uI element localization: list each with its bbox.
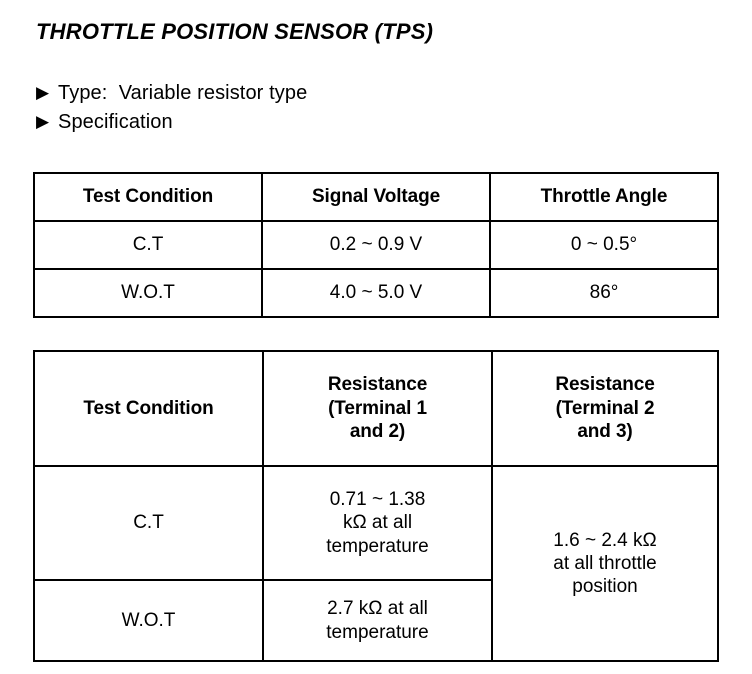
cell-value: C.T xyxy=(39,511,258,534)
bullet-item-type-label: Type: Variable resistor type xyxy=(58,82,307,105)
column-header-test-condition: Test Condition xyxy=(34,351,263,466)
cell-value: 0 ~ 0.5° xyxy=(495,233,713,256)
cell-value: 4.0 ~ 5.0 V xyxy=(267,281,485,304)
cell-test-condition: C.T xyxy=(34,466,263,580)
triangle-bullet-icon: ▶ xyxy=(36,113,58,130)
column-header-resistance-terminal-1-2: Resistance (Terminal 1 and 2) xyxy=(263,351,492,466)
cell-resistance-terminal-2-3-merged: 1.6 ~ 2.4 kΩ at all throttle position xyxy=(492,466,718,661)
cell-throttle-angle: 86° xyxy=(490,269,718,317)
cell-test-condition: C.T xyxy=(34,221,262,269)
table-row: W.O.T 4.0 ~ 5.0 V 86° xyxy=(34,269,718,317)
table-row: C.T 0.2 ~ 0.9 V 0 ~ 0.5° xyxy=(34,221,718,269)
bullet-item-specification-label: Specification xyxy=(58,111,173,134)
cell-value: 0.71 ~ 1.38 kΩ at all temperature xyxy=(268,488,487,558)
triangle-bullet-icon: ▶ xyxy=(36,84,58,101)
column-header-test-condition: Test Condition xyxy=(34,173,262,221)
column-header-label: Resistance (Terminal 2 and 3) xyxy=(497,373,713,444)
cell-value: W.O.T xyxy=(39,281,257,304)
list-item: ▶ Type: Variable resistor type xyxy=(36,82,676,111)
bullet-list: ▶ Type: Variable resistor type ▶ Specifi… xyxy=(36,82,676,140)
cell-value: 86° xyxy=(495,281,713,304)
column-header-label: Test Condition xyxy=(39,397,258,421)
column-header-throttle-angle: Throttle Angle xyxy=(490,173,718,221)
cell-signal-voltage: 0.2 ~ 0.9 V xyxy=(262,221,490,269)
cell-test-condition: W.O.T xyxy=(34,269,262,317)
column-header-label: Test Condition xyxy=(39,185,257,209)
document-page: { "document": { "title": "THROTTLE POSIT… xyxy=(0,0,752,674)
table-header-row: Test Condition Signal Voltage Throttle A… xyxy=(34,173,718,221)
resistance-table: Test Condition Resistance (Terminal 1 an… xyxy=(33,350,719,662)
cell-value: C.T xyxy=(39,233,257,256)
column-header-label: Throttle Angle xyxy=(495,185,713,209)
table-row: C.T 0.71 ~ 1.38 kΩ at all temperature 1.… xyxy=(34,466,718,580)
column-header-label: Resistance (Terminal 1 and 2) xyxy=(268,373,487,444)
column-header-signal-voltage: Signal Voltage xyxy=(262,173,490,221)
cell-value: 1.6 ~ 2.4 kΩ at all throttle position xyxy=(497,529,713,599)
cell-value: 2.7 kΩ at all temperature xyxy=(268,597,487,643)
cell-test-condition: W.O.T xyxy=(34,580,263,661)
cell-resistance-terminal-1-2: 0.71 ~ 1.38 kΩ at all temperature xyxy=(263,466,492,580)
cell-resistance-terminal-1-2: 2.7 kΩ at all temperature xyxy=(263,580,492,661)
table-header-row: Test Condition Resistance (Terminal 1 an… xyxy=(34,351,718,466)
page-title: THROTTLE POSITION SENSOR (TPS) xyxy=(36,19,433,45)
column-header-resistance-terminal-2-3: Resistance (Terminal 2 and 3) xyxy=(492,351,718,466)
cell-throttle-angle: 0 ~ 0.5° xyxy=(490,221,718,269)
signal-voltage-table: Test Condition Signal Voltage Throttle A… xyxy=(33,172,719,318)
cell-value: 0.2 ~ 0.9 V xyxy=(267,233,485,256)
list-item: ▶ Specification xyxy=(36,111,676,140)
column-header-label: Signal Voltage xyxy=(267,185,485,209)
cell-signal-voltage: 4.0 ~ 5.0 V xyxy=(262,269,490,317)
cell-value: W.O.T xyxy=(39,609,258,632)
